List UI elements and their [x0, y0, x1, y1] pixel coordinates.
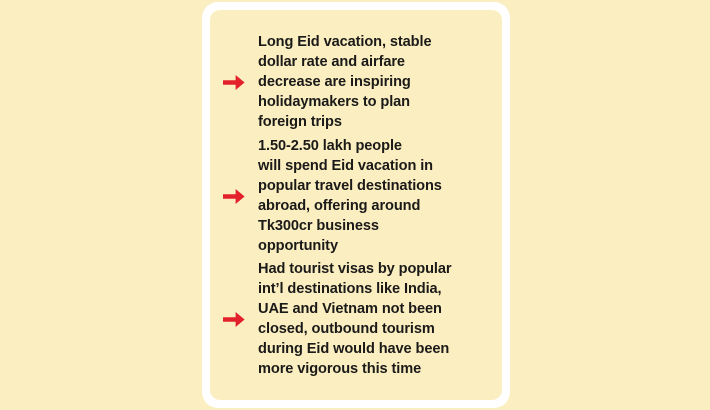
- bullet-text: Had tourist visas by popular int’l desti…: [258, 259, 451, 379]
- list-item: Had tourist visas by popular int’l desti…: [210, 259, 502, 379]
- arrow-right-icon: [210, 187, 258, 205]
- bullet-text: Long Eid vacation, stable dollar rate an…: [258, 32, 431, 132]
- infographic-canvas: Long Eid vacation, stable dollar rate an…: [0, 0, 710, 410]
- arrow-right-icon: [210, 73, 258, 91]
- bullet-list: Long Eid vacation, stable dollar rate an…: [210, 10, 502, 400]
- bullet-card: Long Eid vacation, stable dollar rate an…: [210, 10, 502, 400]
- list-item: Long Eid vacation, stable dollar rate an…: [210, 32, 502, 132]
- list-item: 1.50-2.50 lakh people will spend Eid vac…: [210, 136, 502, 256]
- bullet-text: 1.50-2.50 lakh people will spend Eid vac…: [258, 136, 442, 256]
- arrow-right-icon: [210, 310, 258, 328]
